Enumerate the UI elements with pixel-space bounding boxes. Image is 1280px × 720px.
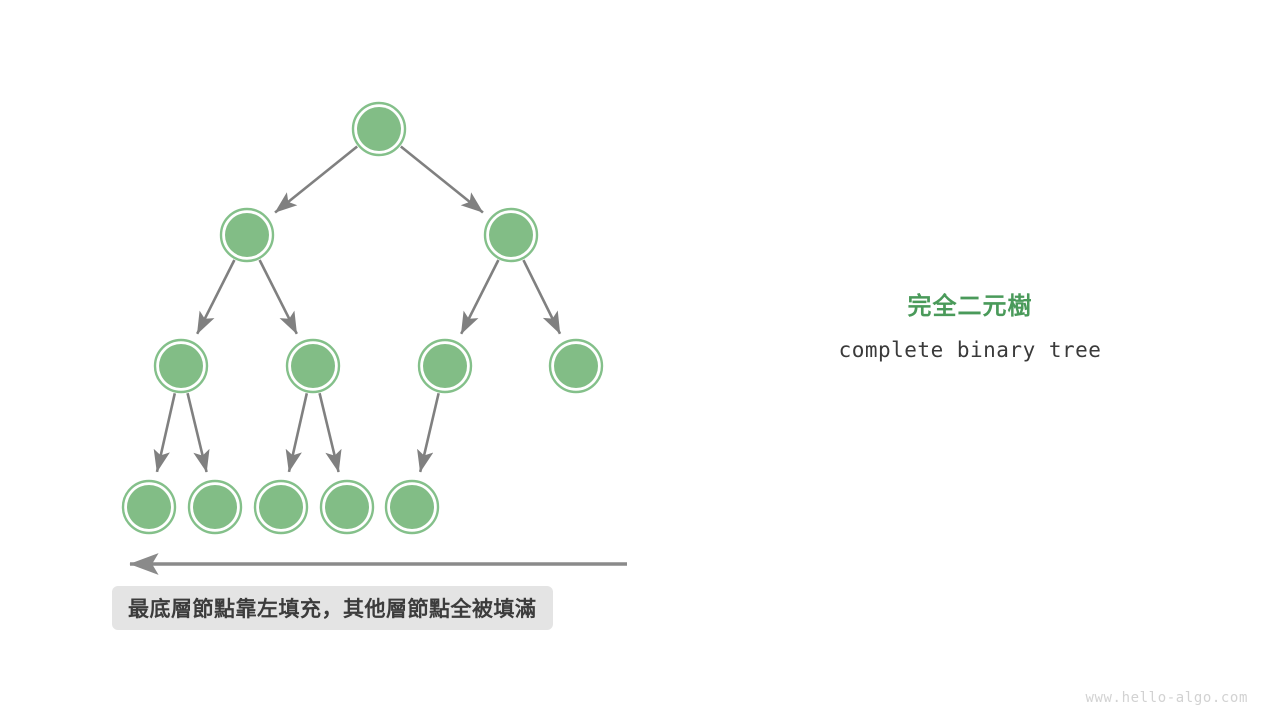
legend-title: 完全二元樹 [780, 292, 1160, 322]
caption-text: 最底層節點靠左填充，其他層節點全被填滿 [128, 593, 537, 623]
tree-node-core [390, 485, 434, 529]
tree-edge [157, 393, 175, 472]
tree-node-core [291, 344, 335, 388]
tree-node-core [193, 485, 237, 529]
tree-node [155, 340, 207, 392]
tree-node [189, 481, 241, 533]
caption-box: 最底層節點靠左填充，其他層節點全被填滿 [112, 586, 553, 630]
tree-node-core [225, 213, 269, 257]
tree-edges [157, 147, 560, 472]
tree-node-core [554, 344, 598, 388]
tree-node-core [259, 485, 303, 529]
tree-edge [188, 393, 207, 472]
tree-node-core [159, 344, 203, 388]
tree-edge [420, 393, 438, 472]
tree-node [255, 481, 307, 533]
tree-node [287, 340, 339, 392]
tree-nodes [123, 103, 602, 533]
tree-node-core [325, 485, 369, 529]
diagram-canvas: 完全二元樹 complete binary tree 最底層節點靠左填充，其他層… [0, 0, 1280, 720]
tree-edge [320, 393, 339, 472]
tree-edge [197, 260, 234, 334]
tree-node-core [127, 485, 171, 529]
tree-node [123, 481, 175, 533]
tree-edge [289, 393, 307, 472]
tree-edge [401, 147, 483, 213]
tree-edge [523, 260, 560, 334]
tree-edge [275, 147, 357, 213]
tree-node [419, 340, 471, 392]
legend-subtitle: complete binary tree [780, 336, 1160, 364]
tree-node-core [489, 213, 533, 257]
tree-node [353, 103, 405, 155]
tree-node [485, 209, 537, 261]
tree-node [550, 340, 602, 392]
tree-edge [461, 260, 498, 334]
tree-node [386, 481, 438, 533]
tree-edge [260, 260, 297, 334]
tree-node-core [423, 344, 467, 388]
tree-node-core [357, 107, 401, 151]
watermark: www.hello-algo.com [1085, 690, 1248, 706]
tree-node [221, 209, 273, 261]
tree-node [321, 481, 373, 533]
legend: 完全二元樹 complete binary tree [780, 292, 1160, 364]
